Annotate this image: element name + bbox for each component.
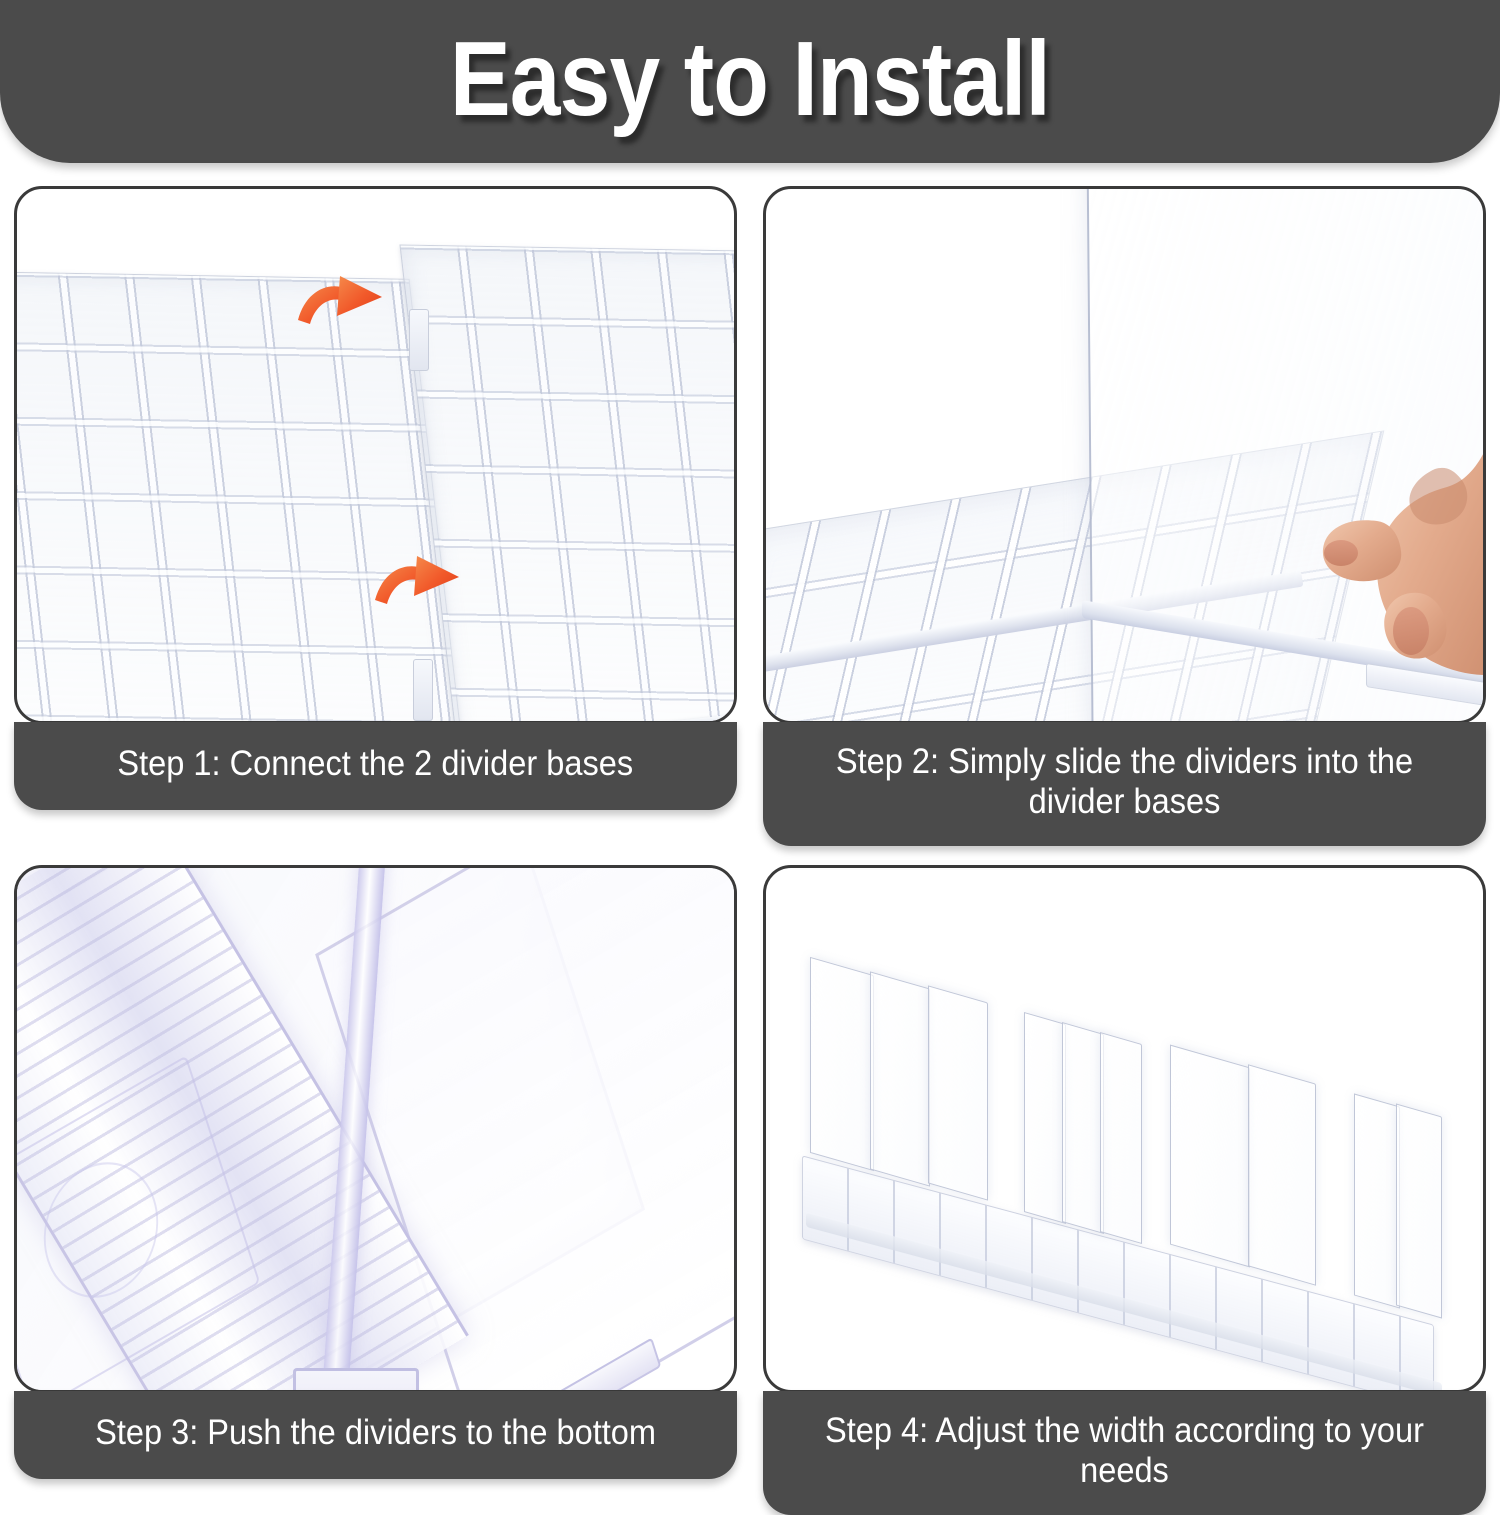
- divider-bases-illustration: [17, 189, 734, 721]
- divider-fin-8: [1248, 1064, 1316, 1285]
- divider-fin-1: [810, 957, 874, 1171]
- step-4-caption: Step 4: Adjust the width according to yo…: [763, 1391, 1486, 1515]
- divider-fin-3: [928, 985, 988, 1200]
- step-2-caption: Step 2: Simply slide the dividers into t…: [763, 722, 1486, 846]
- header-banner: Easy to Install: [0, 0, 1500, 163]
- push-divider-illustration: [17, 868, 734, 1390]
- step-3-photo: [14, 865, 737, 1393]
- divider-fin-6: [1100, 1032, 1142, 1244]
- connect-arrow-bottom-icon: [373, 554, 465, 622]
- divider-fin-7: [1170, 1045, 1250, 1268]
- step-3-caption: Step 3: Push the dividers to the bottom: [14, 1391, 737, 1479]
- divider-base-right: [399, 245, 737, 724]
- divider-fin-4: [1024, 1012, 1066, 1224]
- step-card-4: Step 4: Adjust the width according to yo…: [763, 865, 1486, 1515]
- divider-base-left: [14, 271, 469, 724]
- step-card-2: Step 2: Simply slide the dividers into t…: [763, 186, 1486, 846]
- connect-arrow-top-icon: [296, 274, 388, 342]
- step-card-3: Step 3: Push the dividers to the bottom: [14, 865, 737, 1515]
- divider-fin-9: [1354, 1093, 1400, 1308]
- step-2-caption-text: Step 2: Simply slide the dividers into t…: [812, 742, 1436, 822]
- step-3-caption-text: Step 3: Push the dividers to the bottom: [95, 1413, 656, 1453]
- steps-grid: Step 1: Connect the 2 divider bases: [14, 186, 1486, 1515]
- connector-tab-top: [409, 309, 429, 371]
- divider-fin-10: [1396, 1103, 1442, 1318]
- step-card-1: Step 1: Connect the 2 divider bases: [14, 186, 737, 846]
- step-1-photo: [14, 186, 737, 724]
- slide-divider-illustration: [766, 189, 1483, 721]
- divider-locking-foot: [293, 1368, 419, 1393]
- step-4-photo: [763, 865, 1486, 1393]
- step-1-caption-text: Step 1: Connect the 2 divider bases: [118, 744, 634, 784]
- connector-tab-bottom: [413, 659, 433, 721]
- divider-fin-5: [1062, 1022, 1104, 1234]
- adjustable-dividers-illustration: [766, 868, 1483, 1390]
- divider-fin-2: [870, 971, 930, 1186]
- page-title: Easy to Install: [450, 26, 1050, 132]
- step-2-photo: [763, 186, 1486, 724]
- hand-holding-divider: [1307, 425, 1486, 685]
- step-1-caption: Step 1: Connect the 2 divider bases: [14, 722, 737, 810]
